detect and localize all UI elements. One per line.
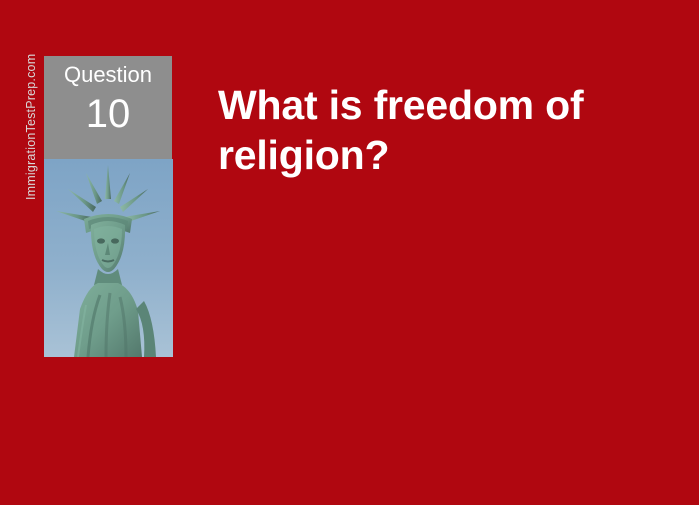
statue-of-liberty-image [44,159,173,357]
page-title: What is freedom of religion? [218,80,668,180]
watermark-text: ImmigrationTestPrep.com [21,20,41,200]
statue-of-liberty-illustration [44,159,173,357]
question-card: Question 10 [44,56,172,159]
slide: ImmigrationTestPrep.com Question 10 [0,0,699,505]
question-label: Question [44,61,172,89]
question-number: 10 [44,88,172,140]
